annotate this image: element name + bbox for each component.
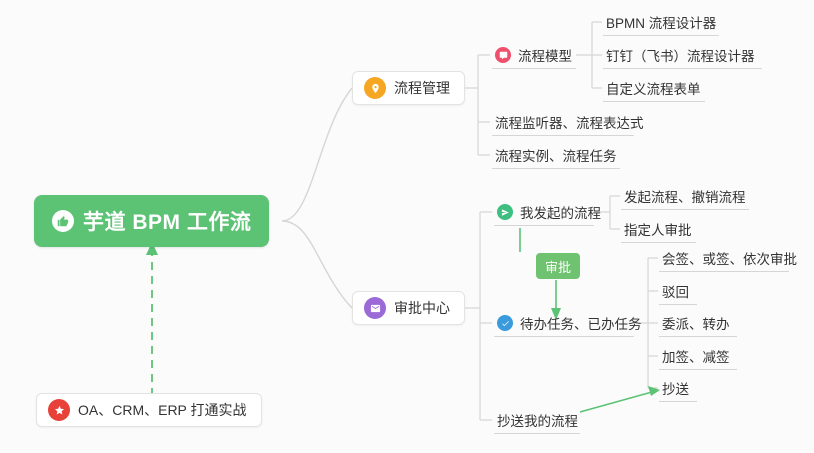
node-label: 发起流程、撤销流程 bbox=[624, 186, 746, 206]
floating-node-approval[interactable]: 审批 bbox=[536, 253, 580, 279]
node-underline bbox=[659, 271, 789, 272]
node-label: 钉钉（飞书）流程设计器 bbox=[606, 45, 755, 65]
chat-bubble-icon bbox=[495, 47, 511, 63]
node-underline bbox=[659, 401, 697, 402]
mail-icon bbox=[364, 297, 386, 319]
star-badge-icon bbox=[48, 399, 70, 421]
node-underline bbox=[621, 209, 749, 210]
node-add-remove-sign[interactable]: 加签、减签 bbox=[659, 343, 733, 369]
node-underline bbox=[659, 304, 697, 305]
node-countersign[interactable]: 会签、或签、依次审批 bbox=[659, 245, 800, 271]
node-cc[interactable]: 抄送 bbox=[659, 375, 692, 401]
check-circle-icon bbox=[497, 315, 513, 331]
thumbs-up-icon bbox=[52, 210, 74, 232]
node-underline bbox=[492, 168, 620, 169]
node-start-cancel-process[interactable]: 发起流程、撤销流程 bbox=[621, 183, 749, 209]
node-underline bbox=[494, 433, 580, 434]
node-underline bbox=[494, 336, 634, 337]
bottom-node-label: OA、CRM、ERP 打通实战 bbox=[78, 400, 247, 420]
node-reject[interactable]: 驳回 bbox=[659, 278, 692, 304]
node-underline bbox=[603, 101, 705, 102]
mindmap-canvas: 芋道 BPM 工作流 流程管理 流程模型 BPMN 流程设计器 钉钉（飞书）流程… bbox=[0, 0, 814, 453]
send-icon bbox=[497, 204, 513, 220]
branch-node-process-management[interactable]: 流程管理 bbox=[352, 71, 465, 105]
node-label: 委派、转办 bbox=[662, 313, 730, 333]
node-underline bbox=[494, 225, 594, 226]
node-delegate-transfer[interactable]: 委派、转办 bbox=[659, 310, 733, 336]
node-dingtalk-designer[interactable]: 钉钉（飞书）流程设计器 bbox=[603, 42, 758, 68]
node-underline bbox=[603, 35, 719, 36]
node-underline bbox=[492, 68, 576, 69]
node-underline bbox=[621, 242, 696, 243]
bottom-node-integration-practice[interactable]: OA、CRM、ERP 打通实战 bbox=[36, 393, 262, 427]
location-pin-icon bbox=[364, 77, 386, 99]
branch-node-label: 审批中心 bbox=[394, 298, 450, 318]
node-label: BPMN 流程设计器 bbox=[606, 12, 716, 32]
node-label: 流程模型 bbox=[518, 45, 572, 65]
node-assigned-approver[interactable]: 指定人审批 bbox=[621, 216, 695, 242]
node-cc-to-me-process[interactable]: 抄送我的流程 bbox=[494, 407, 581, 433]
branch-node-label: 流程管理 bbox=[394, 78, 450, 98]
node-label: 我发起的流程 bbox=[520, 202, 601, 222]
node-label: 抄送我的流程 bbox=[497, 410, 578, 430]
node-label: 流程监听器、流程表达式 bbox=[495, 112, 644, 132]
node-label: 会签、或签、依次审批 bbox=[662, 248, 797, 268]
node-my-started-process[interactable]: 我发起的流程 bbox=[494, 199, 604, 225]
node-label: 指定人审批 bbox=[624, 219, 692, 239]
root-node[interactable]: 芋道 BPM 工作流 bbox=[34, 195, 269, 247]
root-node-label: 芋道 BPM 工作流 bbox=[83, 206, 251, 236]
node-underline bbox=[492, 135, 634, 136]
node-custom-form[interactable]: 自定义流程表单 bbox=[603, 75, 704, 101]
node-todo-done-tasks[interactable]: 待办任务、已办任务 bbox=[494, 310, 645, 336]
node-label: 抄送 bbox=[662, 378, 689, 398]
node-label: 自定义流程表单 bbox=[606, 78, 701, 98]
node-underline bbox=[659, 336, 737, 337]
node-underline bbox=[603, 68, 762, 69]
node-process-instance-task[interactable]: 流程实例、流程任务 bbox=[492, 142, 620, 168]
node-process-model[interactable]: 流程模型 bbox=[492, 42, 575, 68]
branch-node-approval-center[interactable]: 审批中心 bbox=[352, 291, 465, 325]
node-process-listener-expression[interactable]: 流程监听器、流程表达式 bbox=[492, 109, 647, 135]
floating-node-label: 审批 bbox=[545, 257, 571, 276]
node-bpmn-designer[interactable]: BPMN 流程设计器 bbox=[603, 9, 719, 35]
node-label: 驳回 bbox=[662, 281, 689, 301]
node-label: 待办任务、已办任务 bbox=[520, 313, 642, 333]
node-label: 流程实例、流程任务 bbox=[495, 145, 617, 165]
node-underline bbox=[659, 369, 737, 370]
node-label: 加签、减签 bbox=[662, 346, 730, 366]
